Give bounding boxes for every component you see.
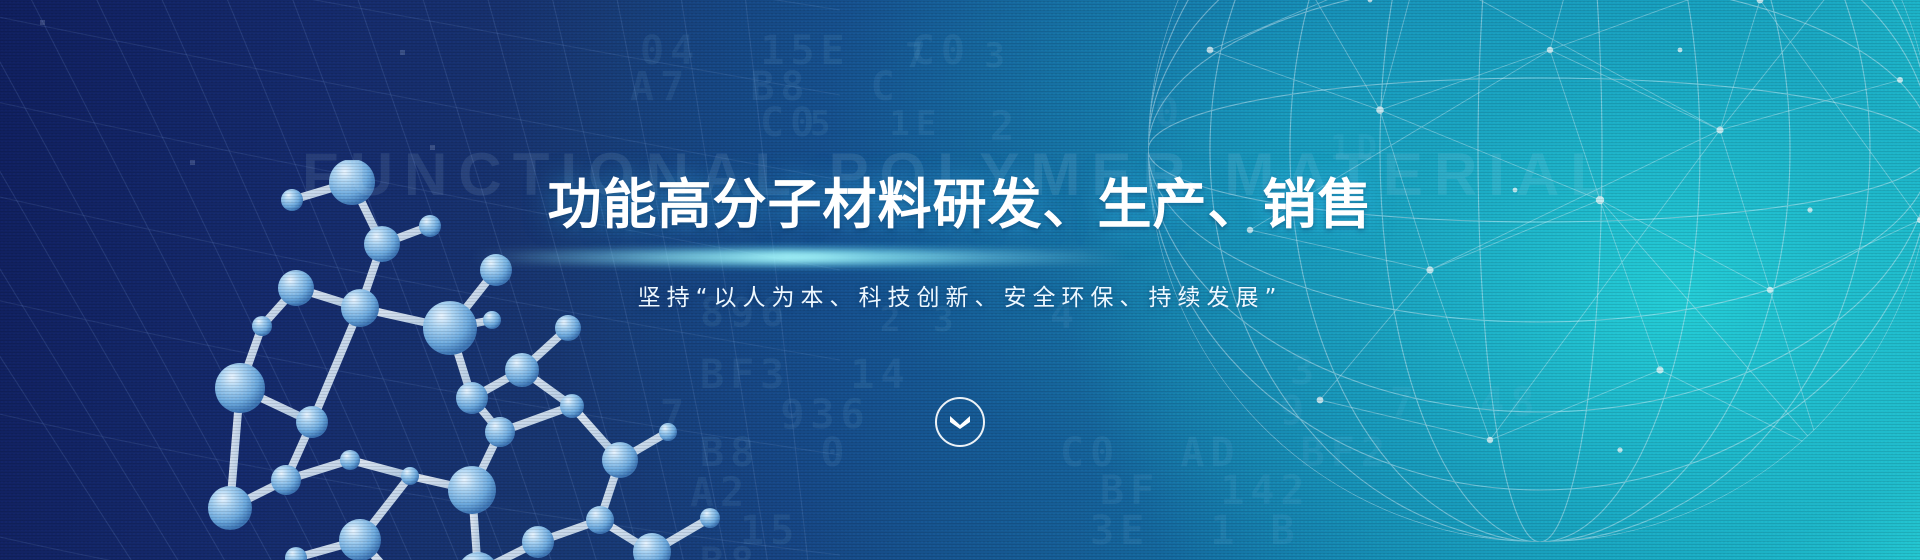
- chevron-down-icon: [948, 414, 972, 430]
- page-title: 功能高分子材料研发、生产、销售: [0, 176, 1920, 234]
- banner-content: FUNCTIONAL POLYMER MATERIAL 功能高分子材料研发、生产…: [0, 0, 1920, 560]
- scroll-down-button[interactable]: [935, 397, 985, 447]
- hero-banner: 04 15E C0A7 B8 CC025 1E7 3BF3 147 936B8 …: [0, 0, 1920, 560]
- page-subtitle: 坚持“以人为本、科技创新、安全环保、持续发展”: [0, 278, 1920, 312]
